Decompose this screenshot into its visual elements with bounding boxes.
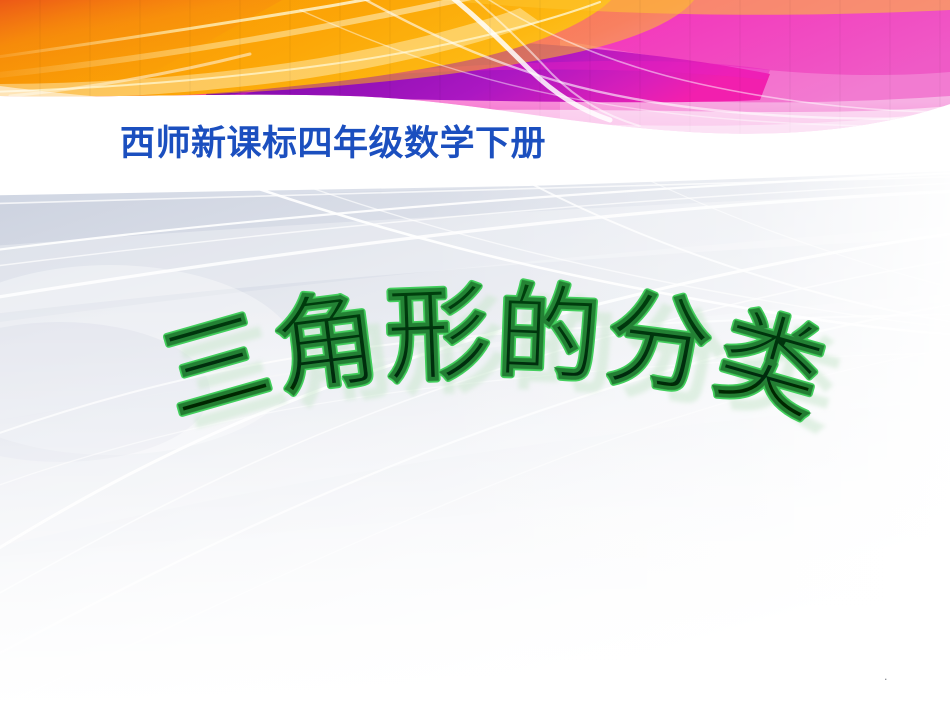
- presentation-slide: 西师新课标四年级数学下册: [0, 0, 950, 713]
- course-subtitle: 西师新课标四年级数学下册: [120, 126, 546, 163]
- corner-mark: .: [884, 671, 888, 682]
- slide-title: 三角形的分类 三角形的分类 三角形的分类 三角形的分类: [205, 272, 785, 442]
- title-wordart: 三角形的分类 三角形的分类 三角形的分类 三角形的分类: [205, 272, 785, 442]
